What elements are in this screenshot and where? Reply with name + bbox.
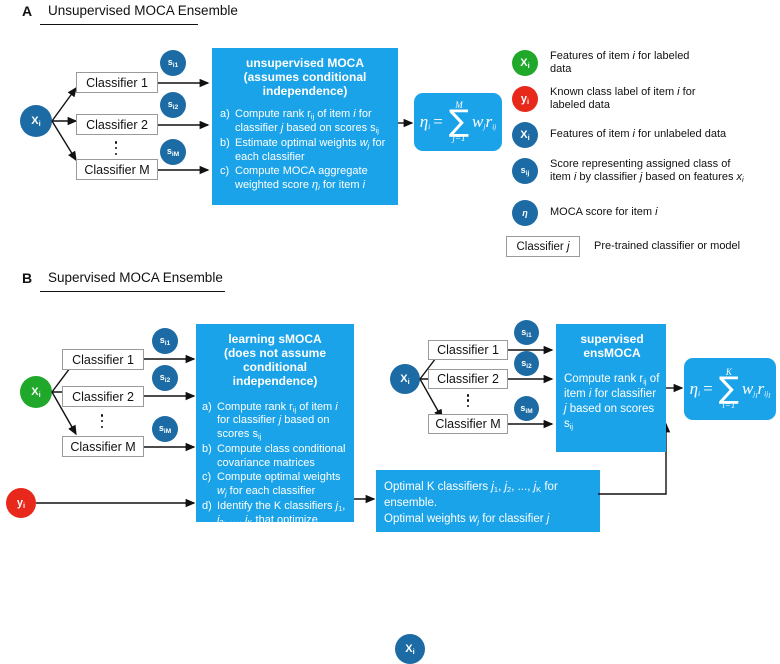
panel-a-process-box: unsupervised MOCA (assumes conditional i… [212, 48, 398, 205]
legend-line-1: Known class label of item i for [550, 86, 762, 99]
panel-b-score-arrows [144, 336, 200, 461]
legend-red-yi-icon: yi [512, 86, 538, 112]
step-marker: a) [220, 108, 235, 136]
panel-b-right-classifier-1[interactable]: Classifier 1 [428, 340, 508, 360]
panel-a-classifier-m[interactable]: Classifier M [76, 159, 158, 180]
sum-lower-limit: l=1 [722, 401, 735, 410]
step-item: b) Compute class conditional covariance … [202, 443, 348, 471]
legend-text: Known class label of item i for labeled … [550, 86, 762, 112]
legend-item-class-label: yi Known class label of item i for label… [512, 86, 762, 112]
legend-line-2: item i by classifier j based on features… [550, 171, 778, 184]
legend-navy-xi-icon: Xi [512, 122, 538, 148]
panel-b-ensmoca-body: Compute rank rij of item i for classifie… [564, 372, 660, 432]
step-marker: d) [202, 500, 217, 541]
panel-b-step-list: a) Compute rank rij of item i for classi… [202, 401, 348, 542]
heading-line-3: independence) [220, 84, 390, 98]
step-marker: c) [202, 471, 217, 499]
step-marker: c) [220, 165, 235, 193]
legend-item-moca-score: η MOCA score for item i [512, 200, 762, 226]
step-text: Compute MOCA aggregate weighted score ηi… [235, 165, 390, 193]
eq-lhs: ηi [690, 379, 701, 399]
legend-navy-eta-icon: η [512, 200, 538, 226]
panel-b-process-heading: learning sMOCA (does not assume conditio… [202, 332, 348, 389]
legend-line-1: Features of item i for labeled [550, 50, 762, 63]
optimal-line-3: Optimal weights wj for classifier j [384, 511, 592, 527]
panel-b-equation: ηi = K ∑ l=1 wjlrijl [690, 368, 771, 409]
legend-line-1: Features of item i for unlabeled data [550, 128, 772, 141]
step-marker: b) [220, 137, 235, 165]
legend-text: Features of item i for labeled data [550, 50, 762, 76]
step-text: Compute optimal weights wj for each clas… [217, 471, 348, 499]
panel-b-right-classifier-m[interactable]: Classifier M [428, 414, 508, 434]
heading-line-1: supervised [564, 332, 660, 346]
panel-b-input-node-yi: yi [6, 488, 36, 518]
optimal-line-2: ensemble. [384, 495, 592, 511]
panel-a: A Unsupervised MOCA Ensemble Xi Classifi… [0, 0, 780, 266]
legend: Xi Features of item i for labeled data y… [512, 50, 778, 255]
eq-summand: wjlrijl [742, 379, 770, 399]
panel-a-process-heading: unsupervised MOCA (assumes conditional i… [220, 56, 390, 98]
legend-classifier-label: Classifier j [516, 241, 569, 253]
sigma-glyph: ∑ [449, 110, 469, 133]
eq-equals: = [703, 379, 713, 399]
legend-text: Pre-trained classifier or model [594, 236, 774, 253]
legend-text: Score representing assigned class of ite… [550, 158, 778, 184]
panel-a-score-arrows [158, 60, 214, 185]
legend-item-classifier: Classifier j Pre-trained classifier or m… [506, 236, 774, 257]
panel-a-classifier-2[interactable]: Classifier 2 [76, 114, 158, 135]
legend-line-1: Score representing assigned class of [550, 158, 778, 171]
legend-item-features-unlabeled: Xi Features of item i for unlabeled data [512, 122, 772, 148]
legend-line-1: MOCA score for item i [550, 206, 762, 219]
panel-b-classifier-m[interactable]: Classifier M [62, 436, 144, 457]
panel-b-letter: B [22, 270, 32, 286]
legend-green-xi-icon: Xi [512, 50, 538, 76]
step-text: Compute class conditional covariance mat… [217, 443, 348, 471]
legend-line-1: Pre-trained classifier or model [594, 240, 774, 253]
legend-item-score: sij Score representing assigned class of… [512, 158, 778, 184]
heading-line-1: learning sMOCA [202, 332, 348, 346]
panel-b-ensmoca-heading: supervised ensMOCA [564, 332, 660, 360]
step-marker: b) [202, 443, 217, 471]
legend-text: MOCA score for item i [550, 200, 762, 219]
panel-b-equation-box: ηi = K ∑ l=1 wjlrijl [684, 358, 776, 420]
panel-a-title: Unsupervised MOCA Ensemble [48, 3, 238, 18]
panel-b-right-xi-node: Xi [390, 364, 420, 394]
eq-summation: M ∑ j=1 [449, 101, 469, 142]
panel-b-right-classifier-2[interactable]: Classifier 2 [428, 369, 508, 389]
panel-b-optimal-box: Optimal K classifiers j1, j2, ..., jK fo… [376, 470, 600, 532]
panel-a-equation: ηi = M ∑ j=1 wjrij [420, 101, 497, 142]
eq-summation: K ∑ l=1 [719, 368, 739, 409]
step-marker: a) [202, 401, 217, 442]
heading-line-3: conditional independence) [202, 360, 348, 388]
eq-lhs: ηi [420, 112, 431, 132]
step-text: Compute rank rij of item i for classifie… [235, 108, 390, 136]
sigma-glyph: ∑ [719, 377, 739, 400]
panel-a-rule [40, 24, 198, 25]
panel-a-step-list: a) Compute rank rij of item i for classi… [220, 108, 390, 193]
step-text: Estimate optimal weights wj for each cla… [235, 137, 390, 165]
panel-b-right-input-node-xi: Xi [395, 634, 425, 664]
panel-b-smoca-to-optimal-arrow [354, 494, 378, 504]
step-item: c) Compute MOCA aggregate weighted score… [220, 165, 390, 193]
legend-line-2: data [550, 63, 762, 76]
panel-a-input-node-xi: Xi [20, 105, 52, 137]
step-item: c) Compute optimal weights wj for each c… [202, 471, 348, 499]
panel-a-equation-box: ηi = M ∑ j=1 wjrij [414, 93, 502, 151]
legend-classifier-box-icon: Classifier j [506, 236, 580, 257]
eq-equals: = [433, 112, 443, 132]
heading-line-2: (does not assume [202, 346, 348, 360]
panel-b-ensmoca-box: supervised ensMOCA Compute rank rij of i… [556, 324, 666, 452]
step-text: Compute rank rij of item i for classifie… [217, 401, 348, 442]
panel-b-classifier-1[interactable]: Classifier 1 [62, 349, 144, 370]
panel-b-optimal-text: Optimal K classifiers j1, j2, ..., jK fo… [384, 479, 592, 527]
heading-line-1: unsupervised MOCA [220, 56, 390, 70]
step-text: Identify the K classifiers j1, j2, ..., … [217, 500, 348, 541]
panel-b-learning-smoca-box: learning sMOCA (does not assume conditio… [196, 324, 354, 522]
panel-b-classifier-2[interactable]: Classifier 2 [62, 386, 144, 407]
panel-a-ellipsis [114, 141, 118, 155]
optimal-line-1: Optimal K classifiers j1, j2, ..., jK fo… [384, 479, 592, 495]
step-item: b) Estimate optimal weights wj for each … [220, 137, 390, 165]
step-item: a) Compute rank rij of item i for classi… [220, 108, 390, 136]
legend-text: Features of item i for unlabeled data [550, 122, 772, 141]
panel-a-letter: A [22, 3, 32, 19]
legend-line-2: labeled data [550, 99, 762, 112]
legend-navy-sij-icon: sij [512, 158, 538, 184]
sum-lower-limit: j=1 [452, 134, 465, 143]
heading-line-2: ensMOCA [564, 346, 660, 360]
step-item: d) Identify the K classifiers j1, j2, ..… [202, 500, 348, 541]
panel-b-yi-arrow [36, 498, 200, 508]
panel-b-title: Supervised MOCA Ensemble [48, 270, 223, 285]
panel-a-classifier-1[interactable]: Classifier 1 [76, 72, 158, 93]
panel-b-ellipsis [100, 414, 104, 428]
step-item: a) Compute rank rij of item i for classi… [202, 401, 348, 442]
panel-b-rule [40, 291, 225, 292]
legend-item-features-labeled: Xi Features of item i for labeled data [512, 50, 762, 76]
node-label: Xi [31, 116, 40, 127]
panel-b-input-node-xi: Xi [20, 376, 52, 408]
heading-line-2: (assumes conditional [220, 70, 390, 84]
eq-summand: wjrij [472, 112, 496, 132]
